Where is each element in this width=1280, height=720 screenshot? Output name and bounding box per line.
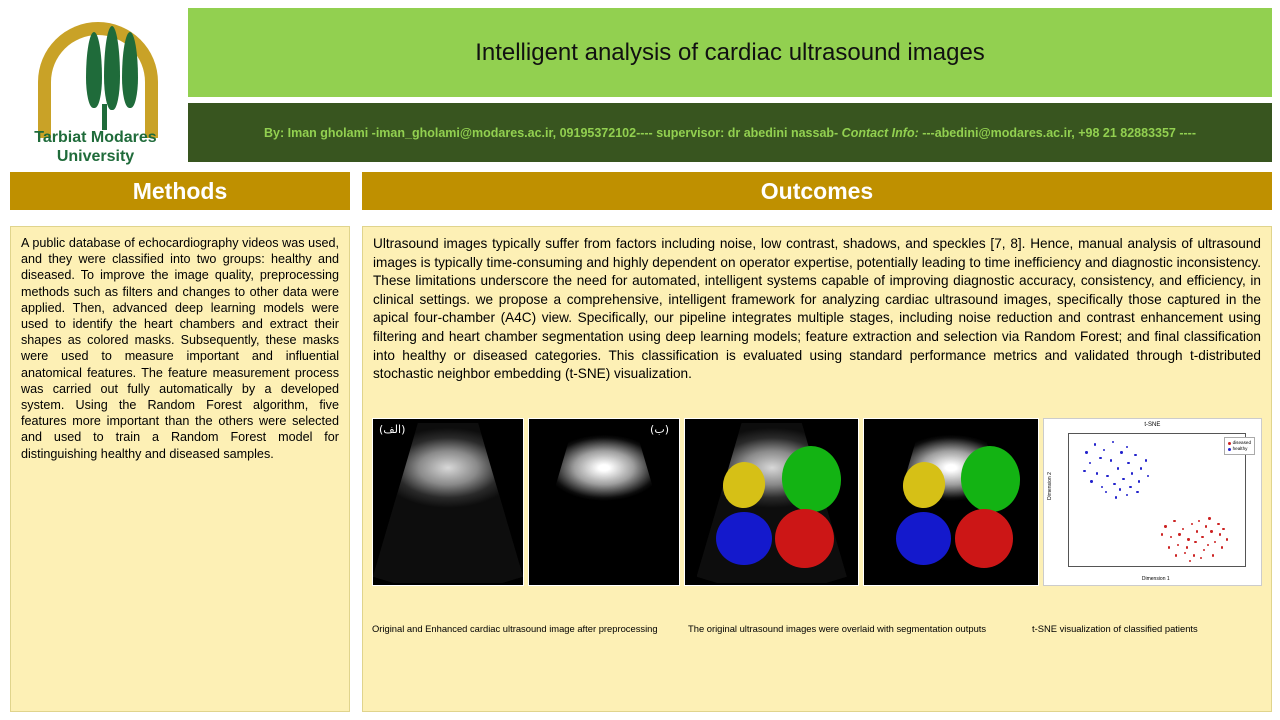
figure-original-ultrasound: (الف)	[372, 418, 524, 586]
tsne-chart-title: t-SNE	[1044, 422, 1261, 428]
tsne-plot-area	[1068, 433, 1246, 567]
logo-text-line2: University	[8, 147, 183, 166]
tsne-point-healthy	[1106, 475, 1108, 477]
section-header-methods: Methods	[10, 172, 350, 210]
tsne-point-healthy	[1120, 451, 1122, 453]
mask-blue	[716, 512, 771, 565]
tsne-point-diseased	[1182, 528, 1184, 530]
tsne-point-diseased	[1170, 536, 1172, 538]
tsne-point-diseased	[1191, 523, 1193, 525]
logo-text: Tarbiat Modares University	[8, 128, 183, 166]
tsne-point-diseased	[1194, 541, 1196, 543]
figure-row: (الف) (ب) t-SNE Dimension 2 Dimension 1	[372, 418, 1262, 590]
ultrasound-image	[529, 423, 679, 583]
authors-line: By: Iman gholami -iman_gholami@modares.a…	[264, 126, 1196, 140]
tsne-point-healthy	[1105, 491, 1107, 493]
poster-canvas: Tarbiat Modares University Intelligent a…	[0, 0, 1280, 720]
tsne-point-diseased	[1217, 523, 1219, 525]
legend-item-healthy: healthy	[1228, 446, 1251, 452]
outcomes-body-text: Ultrasound images typically suffer from …	[373, 235, 1261, 384]
tsne-point-diseased	[1219, 533, 1221, 535]
tsne-point-healthy	[1085, 451, 1087, 453]
tsne-point-diseased	[1207, 544, 1209, 546]
tsne-point-healthy	[1096, 472, 1098, 474]
tsne-point-healthy	[1131, 472, 1133, 474]
tsne-point-diseased	[1214, 541, 1216, 543]
contact-info-label: Contact Info:	[842, 126, 919, 140]
tsne-point-diseased	[1164, 525, 1166, 527]
tsne-point-healthy	[1134, 454, 1136, 456]
tsne-point-diseased	[1201, 536, 1203, 538]
authors-suffix: ---abedini@modares.ac.ir, +98 21 8288335…	[919, 126, 1196, 140]
figure-label-alef: (الف)	[379, 423, 405, 436]
tsne-point-diseased	[1178, 533, 1180, 535]
tsne-point-diseased	[1226, 538, 1228, 540]
figure-segmented-ultrasound-1	[684, 418, 859, 586]
tsne-point-healthy	[1089, 462, 1091, 464]
tsne-point-diseased	[1208, 517, 1210, 519]
authors-bar: By: Iman gholami -iman_gholami@modares.a…	[188, 103, 1272, 162]
ultrasound-image	[373, 423, 523, 583]
tsne-point-diseased	[1222, 528, 1224, 530]
tsne-point-healthy	[1090, 480, 1092, 482]
methods-header-label: Methods	[133, 178, 228, 205]
tsne-point-diseased	[1210, 530, 1212, 532]
tsne-point-healthy	[1094, 443, 1096, 445]
tsne-point-diseased	[1187, 538, 1189, 540]
tsne-point-healthy	[1136, 491, 1138, 493]
page-title: Intelligent analysis of cardiac ultrasou…	[475, 39, 985, 67]
poster-title-bar: Intelligent analysis of cardiac ultrasou…	[188, 8, 1272, 97]
figure-segmented-ultrasound-2	[863, 418, 1038, 586]
university-logo: Tarbiat Modares University	[8, 8, 183, 163]
tsne-point-healthy	[1117, 467, 1119, 469]
tsne-y-axis-label: Dimension 2	[1047, 464, 1053, 508]
tsne-chart: t-SNE Dimension 2 Dimension 1 diseased h…	[1043, 418, 1262, 586]
tsne-point-healthy	[1103, 449, 1105, 451]
figure-caption-1: Original and Enhanced cardiac ultrasound…	[372, 623, 672, 634]
tsne-point-diseased	[1221, 546, 1223, 548]
tsne-point-healthy	[1113, 483, 1115, 485]
tsne-point-diseased	[1203, 549, 1205, 551]
tsne-point-diseased	[1184, 552, 1186, 554]
tsne-point-diseased	[1212, 554, 1214, 556]
tsne-point-diseased	[1161, 533, 1163, 535]
tsne-point-healthy	[1099, 457, 1101, 459]
tsne-point-diseased	[1189, 560, 1191, 562]
tsne-point-healthy	[1126, 446, 1128, 448]
tsne-point-diseased	[1196, 530, 1198, 532]
tsne-point-healthy	[1083, 470, 1085, 472]
tsne-point-healthy	[1126, 494, 1128, 496]
figure-label-be: (ب)	[650, 423, 669, 436]
tsne-point-healthy	[1145, 459, 1147, 461]
tsne-point-healthy	[1119, 488, 1121, 490]
tsne-point-healthy	[1112, 441, 1114, 443]
tsne-point-healthy	[1122, 478, 1124, 480]
section-header-outcomes: Outcomes	[362, 172, 1272, 210]
methods-panel: A public database of echocardiography vi…	[10, 226, 350, 712]
tsne-point-diseased	[1205, 525, 1207, 527]
tsne-point-healthy	[1110, 459, 1112, 461]
tsne-point-healthy	[1138, 480, 1140, 482]
tsne-point-healthy	[1129, 486, 1131, 488]
tsne-point-diseased	[1200, 557, 1202, 559]
tsne-point-diseased	[1177, 544, 1179, 546]
authors-prefix: By: Iman gholami -iman_gholami@modares.a…	[264, 126, 842, 140]
figure-caption-3: t-SNE visualization of classified patien…	[1032, 623, 1262, 634]
figure-enhanced-ultrasound: (ب)	[528, 418, 680, 586]
figure-caption-2: The original ultrasound images were over…	[688, 623, 1008, 634]
legend-dot-icon	[1228, 448, 1231, 451]
tsne-point-healthy	[1101, 486, 1103, 488]
tsne-x-axis-label: Dimension 1	[1068, 576, 1244, 582]
tsne-point-healthy	[1140, 467, 1142, 469]
tsne-point-healthy	[1127, 462, 1129, 464]
outcomes-header-label: Outcomes	[761, 178, 873, 205]
methods-body-text: A public database of echocardiography vi…	[21, 235, 339, 462]
tsne-point-diseased	[1175, 554, 1177, 556]
tsne-point-healthy	[1147, 475, 1149, 477]
logo-text-line1: Tarbiat Modares	[8, 128, 183, 147]
legend-dot-icon	[1228, 442, 1231, 445]
tsne-point-diseased	[1173, 520, 1175, 522]
tsne-legend: diseased healthy	[1224, 437, 1255, 455]
tsne-point-diseased	[1186, 546, 1188, 548]
legend-label-healthy: healthy	[1233, 446, 1248, 452]
tsne-point-diseased	[1193, 554, 1195, 556]
mask-blue	[896, 512, 951, 565]
tsne-point-diseased	[1198, 520, 1200, 522]
logo-stem-icon	[102, 104, 107, 130]
tsne-point-diseased	[1168, 546, 1170, 548]
mask-red	[775, 509, 834, 569]
tsne-point-healthy	[1115, 496, 1117, 498]
